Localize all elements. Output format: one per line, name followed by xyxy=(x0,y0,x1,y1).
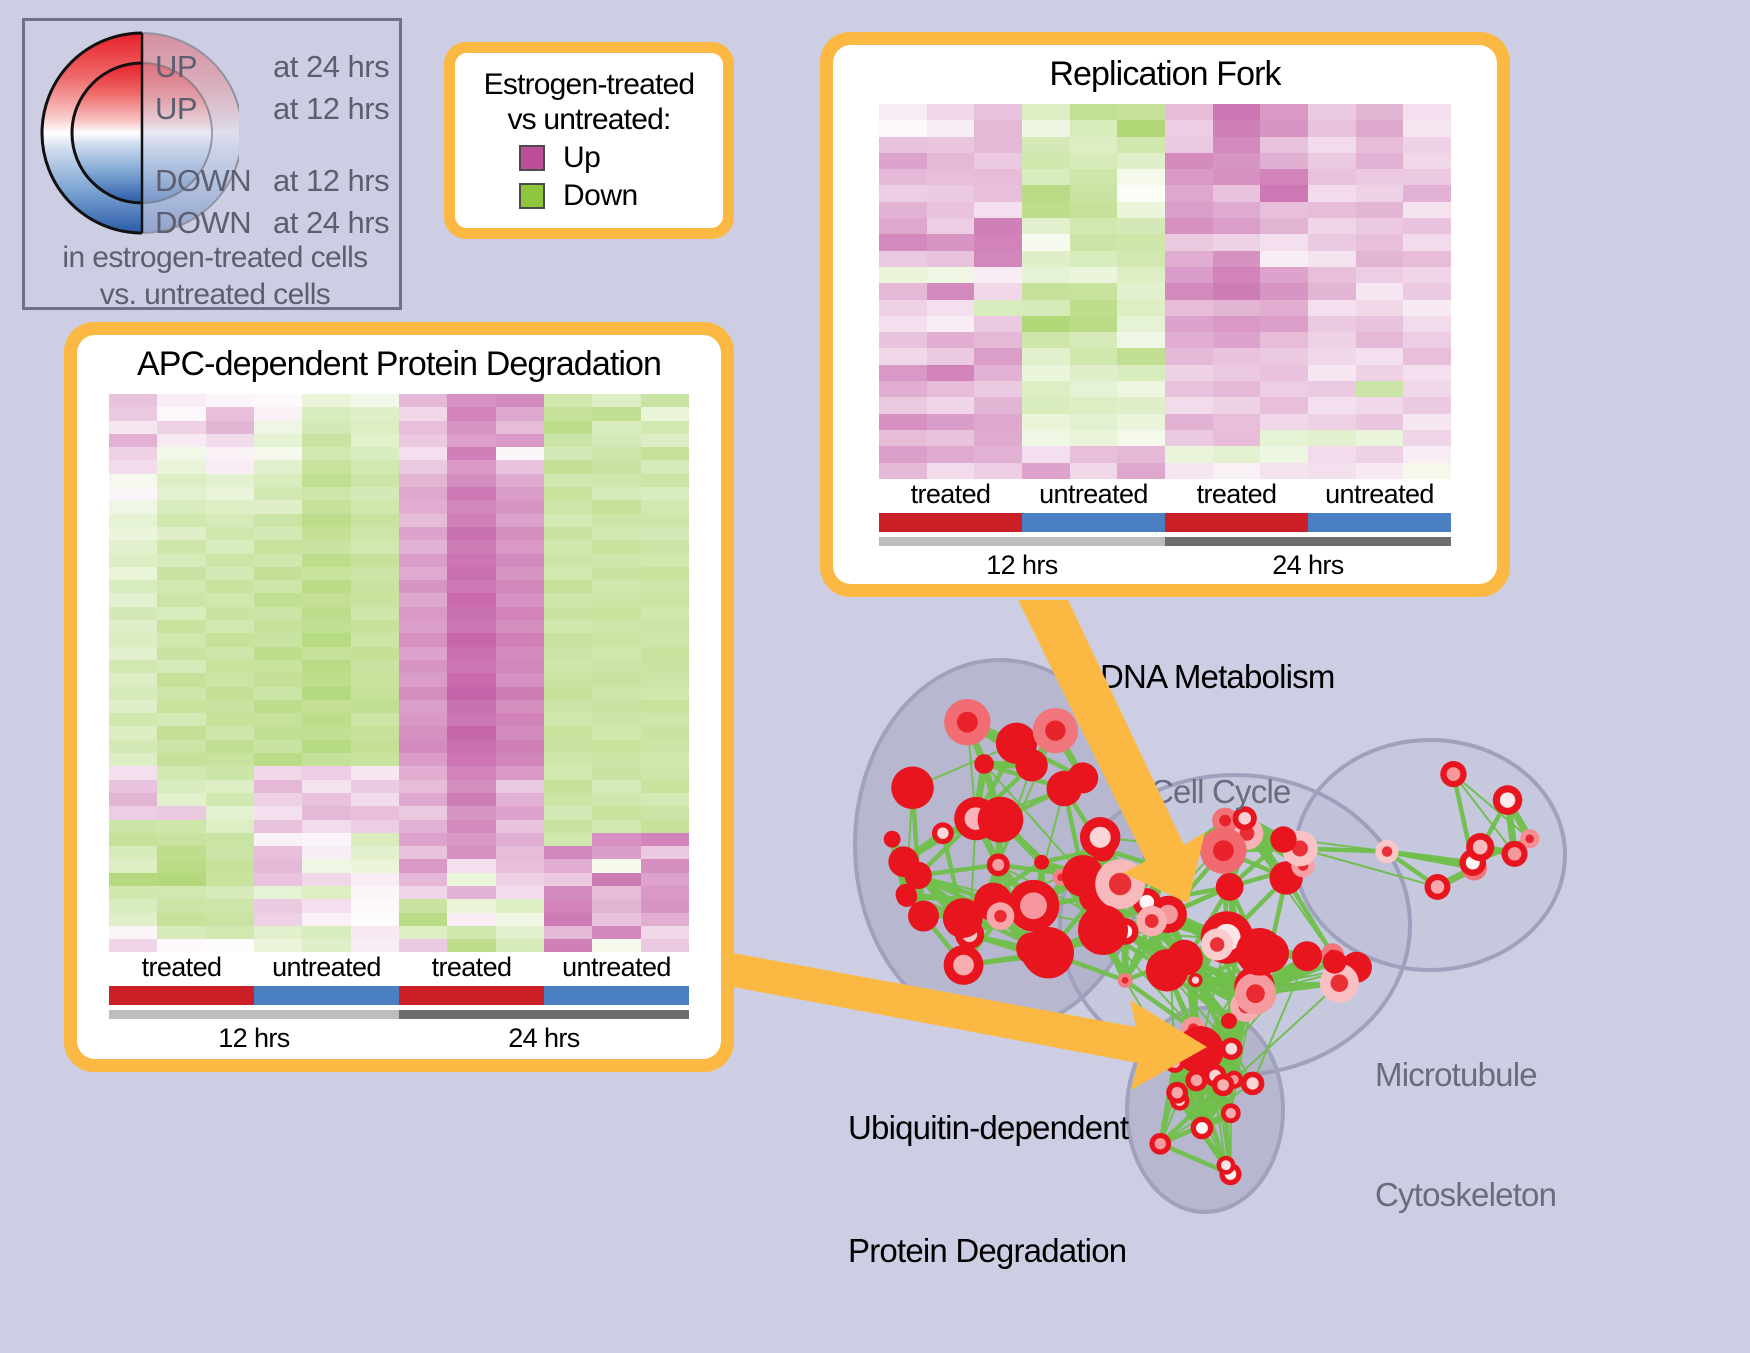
heatmap-cell xyxy=(592,726,640,739)
bar-24hrs xyxy=(1165,537,1451,546)
heatmap-cell xyxy=(206,806,254,819)
heatmap-cell xyxy=(1403,104,1451,120)
heatmap-cell xyxy=(927,218,975,234)
heatmap-cell xyxy=(206,793,254,806)
heatmap-cell xyxy=(592,859,640,872)
heatmap-cell xyxy=(351,700,399,713)
heatmap-cell xyxy=(351,766,399,779)
heatmap-cell xyxy=(1022,446,1070,462)
heatmap-cell xyxy=(641,740,689,753)
heatmap-cell xyxy=(1165,365,1213,381)
heatmap-cell xyxy=(641,939,689,952)
heatmap-cell xyxy=(302,460,350,473)
heatmap-cell xyxy=(974,153,1022,169)
condition-labels: treated untreated treated untreated xyxy=(109,952,689,983)
heatmap-cell xyxy=(254,487,302,500)
heatmap-cell xyxy=(206,487,254,500)
heatmap-cell xyxy=(302,886,350,899)
heatmap-cell xyxy=(641,447,689,460)
heatmap-cell xyxy=(302,939,350,952)
heatmap-cell xyxy=(254,394,302,407)
heatmap-cell xyxy=(1260,283,1308,299)
heatmap-cell xyxy=(157,527,205,540)
heatmap-cell xyxy=(1213,430,1261,446)
heatmap-cell xyxy=(351,567,399,580)
heatmap-cell xyxy=(1356,153,1404,169)
heatmap-cell xyxy=(544,460,592,473)
heatmap-cell xyxy=(399,421,447,434)
heatmap-cell xyxy=(399,527,447,540)
heatmap-cell xyxy=(1165,463,1213,479)
heatmap-cell xyxy=(302,633,350,646)
time-label: 12 hrs xyxy=(879,550,1165,581)
heatmap-cell xyxy=(157,593,205,606)
heatmap-cell xyxy=(641,407,689,420)
heatmap-cell xyxy=(399,913,447,926)
heatmap-cell xyxy=(592,899,640,912)
heatmap-cell xyxy=(1165,251,1213,267)
updown-title-line1: Estrogen-treated xyxy=(467,67,711,102)
heatmap-cell xyxy=(1213,446,1261,462)
bar-treated xyxy=(879,513,1022,532)
heatmap-cell xyxy=(1022,332,1070,348)
heatmap-cell xyxy=(1308,365,1356,381)
legend-key: UP xyxy=(155,49,273,85)
heatmap-cell xyxy=(496,713,544,726)
heatmap-cell xyxy=(544,886,592,899)
heatmap-cell xyxy=(592,806,640,819)
heatmap-cell xyxy=(544,407,592,420)
heatmap-cell xyxy=(1165,332,1213,348)
up-label: Up xyxy=(563,141,600,175)
heatmap-cell xyxy=(254,567,302,580)
network-node xyxy=(1176,1026,1224,1074)
heatmap-cell xyxy=(351,740,399,753)
heatmap-cell xyxy=(927,300,975,316)
heatmap-cell xyxy=(1070,365,1118,381)
heatmap-cell xyxy=(592,700,640,713)
heatmap-cell xyxy=(1117,316,1165,332)
heatmap-cell xyxy=(254,820,302,833)
heatmap-cell xyxy=(302,540,350,553)
heatmap-cell xyxy=(206,753,254,766)
heatmap-cell xyxy=(447,421,495,434)
heatmap-cell xyxy=(496,859,544,872)
heatmap-cell xyxy=(544,820,592,833)
network-node-core xyxy=(1217,1079,1229,1091)
heatmap-cell xyxy=(1022,267,1070,283)
heatmap-cell xyxy=(447,820,495,833)
heatmap-cell xyxy=(1070,104,1118,120)
heatmap-cell xyxy=(302,500,350,513)
heatmap-cell xyxy=(974,381,1022,397)
heatmap-cell xyxy=(1022,234,1070,250)
heatmap-cell xyxy=(544,607,592,620)
heatmap-cell xyxy=(496,540,544,553)
heatmap-cell xyxy=(1117,120,1165,136)
heatmap-cell xyxy=(254,421,302,434)
heatmap-cell xyxy=(1022,251,1070,267)
network-node-core xyxy=(994,910,1007,923)
heatmap-cell xyxy=(879,463,927,479)
heatmap-cell xyxy=(254,873,302,886)
heatmap-cell xyxy=(927,414,975,430)
heatmap-cell xyxy=(447,647,495,660)
network-node xyxy=(1323,950,1347,974)
heatmap-cell xyxy=(1117,430,1165,446)
heatmap-cell xyxy=(641,660,689,673)
condition-labels: treated untreated treated untreated xyxy=(879,479,1451,510)
heatmap-cell xyxy=(302,793,350,806)
heatmap-cell xyxy=(1308,137,1356,153)
heatmap-cell xyxy=(1213,414,1261,430)
heatmap-cell xyxy=(974,251,1022,267)
heatmap-cell xyxy=(447,540,495,553)
network-node xyxy=(1270,826,1296,852)
heatmap-cell xyxy=(974,137,1022,153)
heatmap-cell xyxy=(351,926,399,939)
network-node-core xyxy=(1447,767,1461,781)
heatmap-cell xyxy=(641,527,689,540)
heatmap-cell xyxy=(302,607,350,620)
heatmap-cell xyxy=(157,806,205,819)
heatmap-cell xyxy=(399,500,447,513)
heatmap-cell xyxy=(302,780,350,793)
heatmap-cell xyxy=(206,527,254,540)
heatmap-cell xyxy=(496,913,544,926)
heatmap-cell xyxy=(544,474,592,487)
heatmap-cell xyxy=(1213,332,1261,348)
heatmap-cell xyxy=(496,580,544,593)
bar-treated xyxy=(1165,513,1308,532)
heatmap-cell xyxy=(109,394,157,407)
heatmap-cell xyxy=(109,713,157,726)
heatmap-cell xyxy=(206,394,254,407)
heatmap-cell xyxy=(496,633,544,646)
heatmap-cell xyxy=(879,316,927,332)
heatmap-cell xyxy=(399,833,447,846)
expression-direction-legend: UP at 24 hrs UP at 12 hrs DOWN at 12 hrs… xyxy=(22,18,402,310)
time-color-bar xyxy=(109,1010,689,1019)
legend-row-up24: UP at 24 hrs xyxy=(155,49,405,91)
heatmap-cell xyxy=(399,487,447,500)
condition-label: untreated xyxy=(1308,479,1451,510)
heatmap-cell xyxy=(1117,202,1165,218)
heatmap-cell xyxy=(1213,104,1261,120)
heatmap-cell xyxy=(302,753,350,766)
heatmap-cell xyxy=(1356,397,1404,413)
heatmap-cell xyxy=(109,939,157,952)
heatmap-cell xyxy=(157,487,205,500)
heatmap-cell xyxy=(447,567,495,580)
heatmap-cell xyxy=(157,873,205,886)
heatmap-cell xyxy=(1260,397,1308,413)
network-node-core xyxy=(1246,1077,1258,1089)
heatmap-cell xyxy=(592,820,640,833)
heatmap-cell xyxy=(974,430,1022,446)
heatmap-cell xyxy=(399,806,447,819)
heatmap-cell xyxy=(351,514,399,527)
heatmap-cell xyxy=(1022,397,1070,413)
heatmap-cell xyxy=(399,873,447,886)
heatmap-cell xyxy=(399,514,447,527)
heatmap-cell xyxy=(254,434,302,447)
heatmap-cell xyxy=(399,620,447,633)
heatmap-cell xyxy=(1308,316,1356,332)
heatmap-cell xyxy=(254,514,302,527)
heatmap-cell xyxy=(974,348,1022,364)
heatmap-cell xyxy=(1213,234,1261,250)
heatmap-cell xyxy=(1022,414,1070,430)
heatmap-cell xyxy=(641,846,689,859)
heatmap-cell xyxy=(399,647,447,660)
heatmap-cell xyxy=(641,687,689,700)
heatmap-cell xyxy=(447,939,495,952)
heatmap-cell xyxy=(206,607,254,620)
heatmap-cell xyxy=(1260,365,1308,381)
heatmap-cell xyxy=(1070,446,1118,462)
heatmap-cell xyxy=(1022,430,1070,446)
heatmap-cell xyxy=(109,487,157,500)
heatmap-cell xyxy=(206,926,254,939)
heatmap-cell xyxy=(879,283,927,299)
heatmap-cell xyxy=(496,554,544,567)
heatmap-cell xyxy=(157,886,205,899)
heatmap-cell xyxy=(254,673,302,686)
heatmap-cell xyxy=(447,740,495,753)
heatmap-cell xyxy=(879,104,927,120)
heatmap-cell xyxy=(399,660,447,673)
heatmap-cell xyxy=(206,500,254,513)
heatmap-cell xyxy=(927,430,975,446)
heatmap-cell xyxy=(592,793,640,806)
heatmap-cell xyxy=(1308,300,1356,316)
heatmap-cell xyxy=(1070,202,1118,218)
network-node xyxy=(1078,905,1128,955)
heatmap-cell xyxy=(496,766,544,779)
heatmap-cell xyxy=(399,567,447,580)
heatmap-cell xyxy=(1213,381,1261,397)
heatmap-cell xyxy=(302,527,350,540)
heatmap-cell xyxy=(974,104,1022,120)
heatmap-cell xyxy=(399,886,447,899)
heatmap-cell xyxy=(1165,397,1213,413)
heatmap-cell xyxy=(641,421,689,434)
heatmap-cell xyxy=(879,185,927,201)
network-node xyxy=(908,901,939,932)
heatmap-cell xyxy=(496,740,544,753)
heatmap-cell xyxy=(1165,414,1213,430)
heatmap-cell xyxy=(496,700,544,713)
heatmap-cell xyxy=(254,633,302,646)
heatmap-cell xyxy=(399,793,447,806)
heatmap-cell xyxy=(496,780,544,793)
legend-row-up12: UP at 12 hrs xyxy=(155,91,405,133)
heatmap-cell xyxy=(592,593,640,606)
ubiquitin-line1: Ubiquitin-dependent xyxy=(848,1107,1128,1148)
heatmap-cell xyxy=(1070,153,1118,169)
heatmap-cell xyxy=(109,540,157,553)
heatmap-cell xyxy=(157,846,205,859)
panel-replication-inner: Replication Fork treated untreated treat… xyxy=(833,45,1497,584)
heatmap-cell xyxy=(302,700,350,713)
heatmap-cell xyxy=(544,660,592,673)
heatmap-cell xyxy=(399,580,447,593)
heatmap-cell xyxy=(109,567,157,580)
heatmap-cell xyxy=(879,348,927,364)
heatmap-cell xyxy=(879,234,927,250)
heatmap-cell xyxy=(302,580,350,593)
heatmap-cell xyxy=(447,434,495,447)
heatmap-cell xyxy=(544,726,592,739)
heatmap-cell xyxy=(641,487,689,500)
heatmap-cell xyxy=(109,434,157,447)
heatmap-cell xyxy=(351,687,399,700)
network-node-core xyxy=(1238,812,1251,825)
heatmap-cell xyxy=(157,633,205,646)
heatmap-cell xyxy=(1117,169,1165,185)
condition-label: untreated xyxy=(254,952,399,983)
heatmap-cell xyxy=(254,713,302,726)
axis-replication: treated untreated treated untreated xyxy=(879,479,1451,581)
heatmap-cell xyxy=(496,593,544,606)
heatmap-cell xyxy=(974,185,1022,201)
heatmap-cell xyxy=(254,407,302,420)
heatmap-cell xyxy=(544,421,592,434)
heatmap-cell xyxy=(1117,414,1165,430)
network-node-core xyxy=(1226,1108,1236,1118)
heatmap-cell xyxy=(927,267,975,283)
heatmap-cell xyxy=(109,886,157,899)
heatmap-cell xyxy=(254,700,302,713)
heatmap-cell xyxy=(206,447,254,460)
heatmap-cell xyxy=(109,580,157,593)
heatmap-cell xyxy=(399,700,447,713)
heatmap-cell xyxy=(109,766,157,779)
heatmap-cell xyxy=(447,793,495,806)
condition-label: treated xyxy=(879,479,1022,510)
heatmap-cell xyxy=(641,580,689,593)
network-node xyxy=(888,846,919,877)
heatmap-cell xyxy=(879,137,927,153)
heatmap-cell xyxy=(544,633,592,646)
heatmap-cell xyxy=(351,846,399,859)
heatmap-cell xyxy=(1403,218,1451,234)
heatmap-cell xyxy=(1260,234,1308,250)
heatmap-cell xyxy=(1165,300,1213,316)
heatmap-cell xyxy=(1308,414,1356,430)
network-node xyxy=(1015,749,1047,781)
heatmap-cell xyxy=(641,673,689,686)
heatmap-cell xyxy=(302,726,350,739)
heatmap-cell xyxy=(302,687,350,700)
heatmap-cell xyxy=(974,316,1022,332)
heatmap-cell xyxy=(641,620,689,633)
heatmap-cell xyxy=(1356,446,1404,462)
heatmap-cell xyxy=(592,873,640,886)
heatmap-cell xyxy=(1260,332,1308,348)
heatmap-cell xyxy=(927,381,975,397)
heatmap-cell xyxy=(351,460,399,473)
heatmap-cell xyxy=(592,647,640,660)
heatmap-cell xyxy=(109,673,157,686)
bar-treated xyxy=(109,986,254,1005)
network-node xyxy=(884,831,901,848)
heatmap-cell xyxy=(496,460,544,473)
heatmap-cell xyxy=(1070,430,1118,446)
heatmap-cell xyxy=(1213,251,1261,267)
network-node xyxy=(1034,855,1049,870)
heatmap-cell xyxy=(351,753,399,766)
heatmap-cell xyxy=(496,660,544,673)
heatmap-cell xyxy=(1308,234,1356,250)
heatmap-cell xyxy=(206,540,254,553)
heatmap-cell xyxy=(641,567,689,580)
legend-value: at 24 hrs xyxy=(273,49,389,85)
heatmap-cell xyxy=(447,713,495,726)
heatmap-cell xyxy=(641,540,689,553)
heatmap-cell xyxy=(399,540,447,553)
heatmap-cell xyxy=(206,899,254,912)
heatmap-cell xyxy=(641,633,689,646)
heatmap-cell xyxy=(1403,153,1451,169)
heatmap-cell xyxy=(1356,267,1404,283)
heatmap-cell xyxy=(592,434,640,447)
heatmap-cell xyxy=(206,740,254,753)
heatmap-cell xyxy=(641,726,689,739)
heatmap-cell xyxy=(1165,283,1213,299)
heatmap-cell xyxy=(1260,300,1308,316)
heatmap-cell xyxy=(496,447,544,460)
heatmap-cell xyxy=(254,926,302,939)
heatmap-cell xyxy=(1403,300,1451,316)
heatmap-cell xyxy=(157,926,205,939)
heatmap-cell xyxy=(351,434,399,447)
heatmap-cell xyxy=(1308,185,1356,201)
heatmap-cell xyxy=(1260,251,1308,267)
heatmap-cell xyxy=(1260,169,1308,185)
heatmap-cell xyxy=(544,434,592,447)
network-node-core xyxy=(1109,873,1131,895)
heatmap-cell xyxy=(351,394,399,407)
heatmap-cell xyxy=(641,514,689,527)
heatmap-cell xyxy=(302,926,350,939)
heatmap-cell xyxy=(1260,381,1308,397)
heatmap-cell xyxy=(399,687,447,700)
heatmap-cell xyxy=(302,567,350,580)
heatmap-cell xyxy=(641,607,689,620)
heatmap-cell xyxy=(641,700,689,713)
heatmap-cell xyxy=(206,660,254,673)
heatmap-cell xyxy=(109,447,157,460)
heatmap-cell xyxy=(1070,316,1118,332)
heatmap-cell xyxy=(1260,153,1308,169)
heatmap-cell xyxy=(254,846,302,859)
heatmap-cell xyxy=(399,713,447,726)
heatmap-cell xyxy=(157,607,205,620)
heatmap-cell xyxy=(302,514,350,527)
heatmap-cell xyxy=(1117,381,1165,397)
network-node-core xyxy=(953,955,974,976)
heatmap-cell xyxy=(1260,430,1308,446)
network-node-core xyxy=(1090,827,1111,848)
heatmap-cell xyxy=(1403,430,1451,446)
heatmap-cell xyxy=(399,846,447,859)
heatmap-cell xyxy=(1403,316,1451,332)
heatmap-cell xyxy=(974,267,1022,283)
panel-apc-inner: APC-dependent Protein Degradation treate… xyxy=(77,335,721,1059)
heatmap-cell xyxy=(496,421,544,434)
